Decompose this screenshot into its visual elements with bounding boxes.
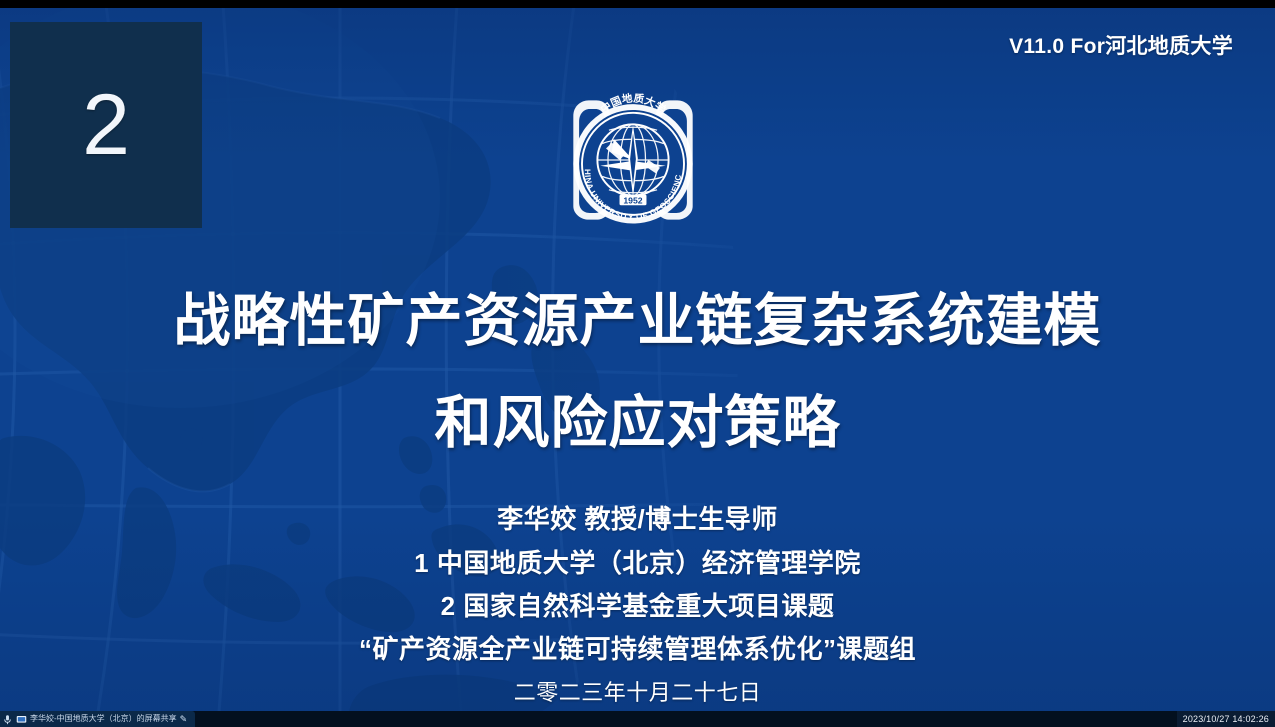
byline-affiliation-2: 2 国家自然科学基金重大项目课题 [0,585,1275,628]
cug-university-emblem-icon: 1952 CHINA UNIVERSITY OF GEOSCIENCES 中国地… [556,82,710,238]
screen-share-icon[interactable] [16,714,27,725]
slide-byline: 李华姣 教授/博士生导师 1 中国地质大学（北京）经济管理学院 2 国家自然科学… [0,497,1275,711]
screen-share-viewport: 2 V11.0 For河北地质大学 [0,0,1275,727]
byline-date: 二零二三年十月二十七日 [0,671,1275,711]
top-letterbox-bar [0,0,1275,8]
version-label: V11.0 For河北地质大学 [1009,30,1233,60]
screen-share-label: 李华姣-中国地质大学（北京）的屏幕共享 [30,711,177,727]
microphone-icon[interactable] [2,714,13,725]
slide-title: 战略性矿产资源产业链复杂系统建模 和风险应对策略 [0,270,1275,474]
byline-author: 李华姣 教授/博士生导师 [0,497,1275,541]
svg-text:1952: 1952 [623,195,642,205]
section-number-text: 2 [82,82,130,168]
byline-affiliation-1: 1 中国地质大学（北京）经济管理学院 [0,541,1275,585]
section-number-badge: 2 [10,22,202,228]
pencil-icon[interactable]: ✎ [180,711,188,727]
presentation-slide: 2 V11.0 For河北地质大学 [0,8,1275,711]
screen-share-indicator[interactable]: 李华姣-中国地质大学（北京）的屏幕共享 ✎ [0,711,195,727]
slide-title-line-2: 和风险应对策略 [0,372,1275,474]
slide-title-line-1: 战略性矿产资源产业链复杂系统建模 [0,270,1275,372]
byline-project-group: “矿产资源全产业链可持续管理体系优化”课题组 [0,628,1275,671]
